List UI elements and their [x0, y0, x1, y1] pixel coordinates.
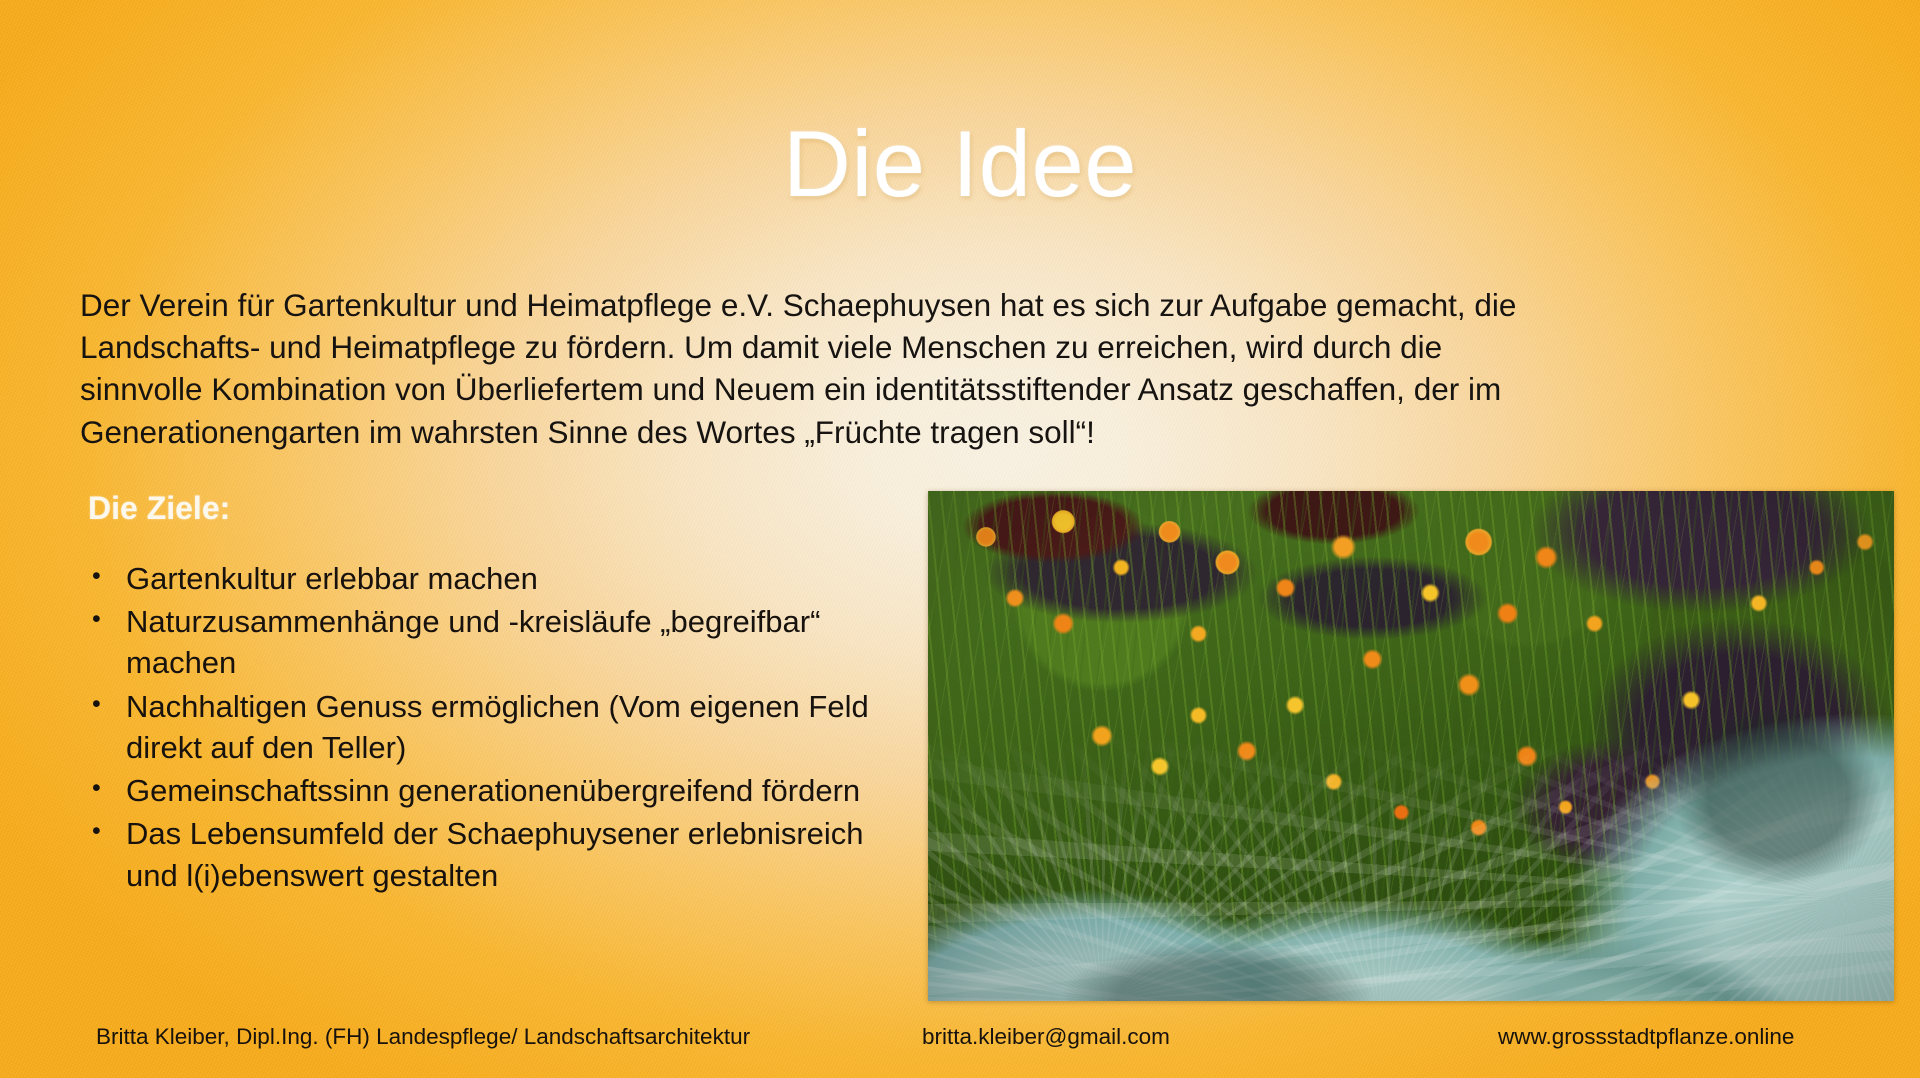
garden-bed-photo — [928, 491, 1894, 1001]
list-item: Gemeinschaftssinn generationenübergreife… — [78, 770, 918, 811]
list-item: Naturzusammenhänge und -kreisläufe „begr… — [78, 601, 918, 683]
slide: Die Idee Der Verein für Gartenkultur und… — [0, 0, 1920, 1078]
footer-email[interactable]: britta.kleiber@gmail.com — [922, 1024, 1170, 1050]
list-item: Gartenkultur erlebbar machen — [78, 558, 918, 599]
list-item: Das Lebensumfeld der Schaephuysener erle… — [78, 813, 918, 895]
footer-website[interactable]: www.grossstadtpflanze.online — [1498, 1024, 1794, 1050]
page-title: Die Idee — [0, 115, 1920, 214]
footer: Britta Kleiber, Dipl.Ing. (FH) Landespfl… — [0, 1024, 1920, 1064]
goals-heading: Die Ziele: — [88, 490, 230, 527]
list-item: Nachhaltigen Genuss ermöglichen (Vom eig… — [78, 686, 918, 768]
goals-list: Gartenkultur erlebbar machen Naturzusamm… — [78, 558, 918, 898]
footer-author: Britta Kleiber, Dipl.Ing. (FH) Landespfl… — [96, 1024, 750, 1050]
photo-vignette-layer — [928, 491, 1894, 1001]
intro-paragraph: Der Verein für Gartenkultur und Heimatpf… — [80, 284, 1560, 453]
